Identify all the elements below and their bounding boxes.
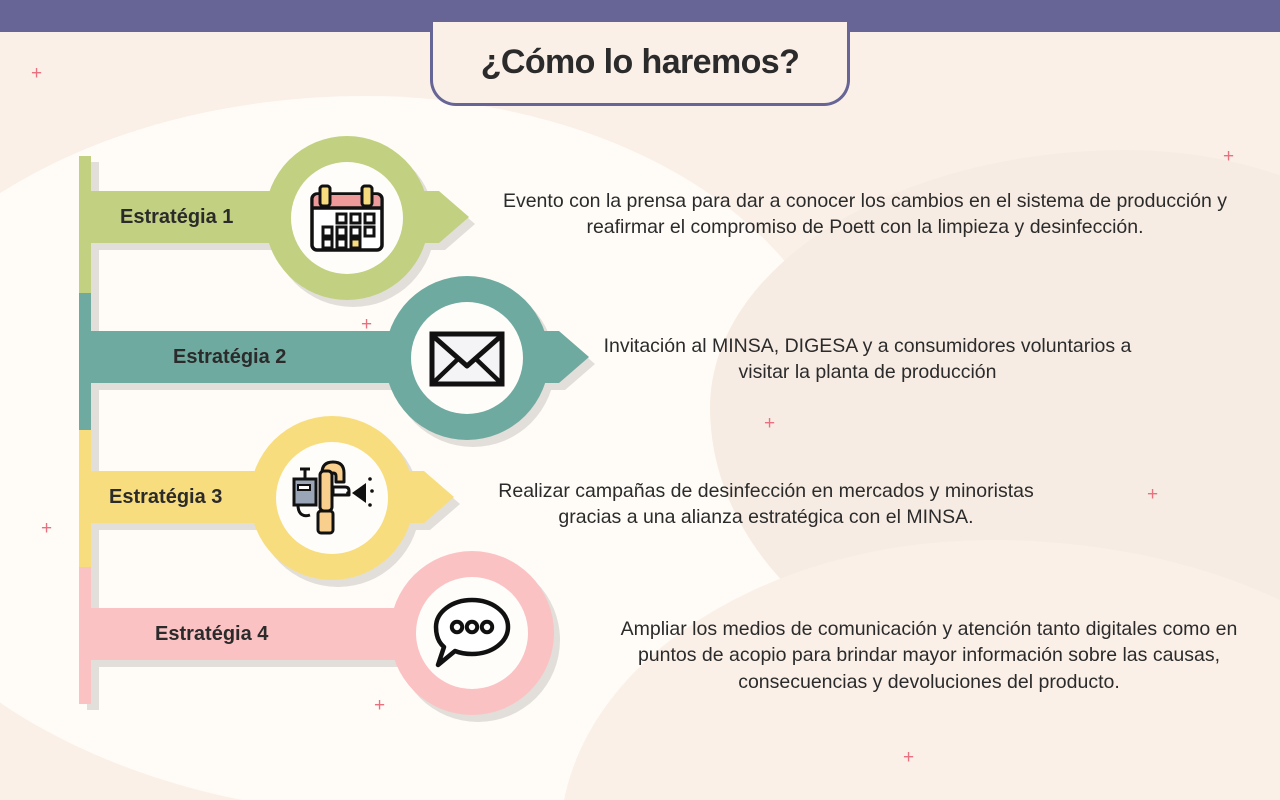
strategy-description-1: Evento con la prensa para dar a conocer … xyxy=(470,188,1260,241)
icon-ring-inner xyxy=(411,302,523,414)
plus-marker-icon: + xyxy=(41,519,52,538)
icon-ring-inner xyxy=(291,162,403,274)
arrow-tip-2 xyxy=(559,331,589,383)
icon-ring-2[interactable] xyxy=(385,276,549,440)
icon-ring-inner xyxy=(416,577,528,689)
plus-marker-icon: + xyxy=(764,414,775,433)
strategy-label-3: Estratégia 3 xyxy=(109,486,222,509)
page-title: ¿Cómo lo haremos? xyxy=(481,43,800,82)
plus-marker-icon: + xyxy=(903,748,914,767)
arrow-tip-3 xyxy=(424,471,454,523)
strategy-description-2: Invitación al MINSA, DIGESA y a consumid… xyxy=(600,333,1135,386)
plus-marker-icon: + xyxy=(1223,147,1234,166)
icon-ring-3[interactable] xyxy=(250,416,414,580)
icon-ring-1[interactable] xyxy=(265,136,429,300)
strategy-description-3: Realizar campañas de desinfección en mer… xyxy=(470,478,1062,531)
speech-bubble-icon xyxy=(430,595,514,671)
icon-ring-4[interactable] xyxy=(390,551,554,715)
slide-canvas: + + + + + + + + ¿Cómo lo haremos? Estrat… xyxy=(0,0,1280,800)
envelope-icon xyxy=(428,328,506,388)
slide-title-box: ¿Cómo lo haremos? xyxy=(430,22,850,106)
strategy-description-4: Ampliar los medios de comunicación y ate… xyxy=(620,616,1238,695)
disinfection-worker-icon xyxy=(288,457,376,539)
plus-marker-icon: + xyxy=(1147,485,1158,504)
strategy-label-1: Estratégia 1 xyxy=(120,206,233,229)
strategy-label-2: Estratégia 2 xyxy=(173,346,286,369)
icon-ring-inner xyxy=(276,442,388,554)
plus-marker-icon: + xyxy=(31,64,42,83)
strategy-label-4: Estratégia 4 xyxy=(155,623,268,646)
calendar-icon xyxy=(306,181,388,255)
arrow-tip-1 xyxy=(439,191,469,243)
plus-marker-icon: + xyxy=(374,696,385,715)
